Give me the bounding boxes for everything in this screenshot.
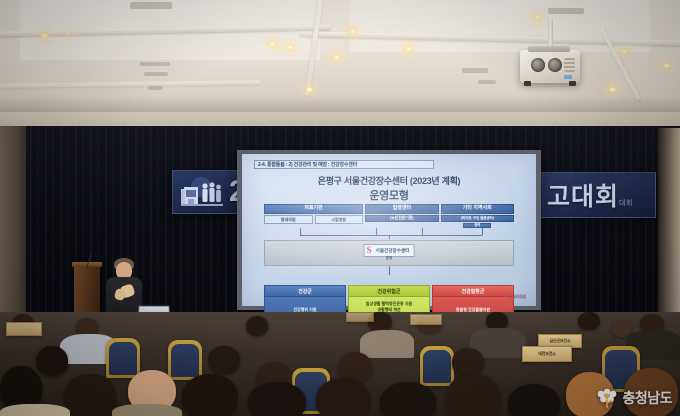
top-box-sub: (복지관, 주민 돌봄센터) [441,215,514,222]
ceiling-projector [520,50,580,83]
audience-head [246,316,268,336]
audience-chair [420,346,454,386]
hospital-logo-icon: S [502,292,506,301]
audience-head [36,346,68,376]
ceiling-downlight [286,44,295,51]
table-placard-text: 금산군보건소 [550,338,571,344]
conference-hall-screenshot: 2 고대회 대회 2-4. 통합돌봄 : 2) 건강관리 및 예방 : 건강장수… [0,0,680,416]
group-header: 건강위험군 [348,285,430,297]
ceiling-downlight [620,48,629,55]
top-box-sub: 시립병원 [315,215,364,224]
audience-head [64,374,116,416]
audience-head [508,384,560,416]
audience-shoulders [360,330,414,358]
audience-area: 금산군보건소 대전보건소 [0,312,680,416]
watermark: 충청남도 [596,388,672,408]
slide-footer-logo: S 서울의료원 [502,292,526,301]
top-box-label: 집행센터 [365,204,438,214]
slide-subtitle: 운영모형 [242,187,536,203]
audience-head [578,312,600,330]
group-header: 건강군 [264,285,346,297]
right-banner-text: 고대회 [547,177,619,213]
left-wall-panel [0,126,26,326]
diagram-connectors [264,228,514,239]
audience-chair [168,340,202,380]
building-and-people-emblem-icon [179,175,225,209]
top-box-label: 의료기관 [264,204,363,214]
slide-title: 은평구 서울건강장수센터 (2023년 계획) [242,174,536,187]
table-placard: 대전보건소 [522,346,572,362]
audience-head [248,382,306,416]
audience-head [380,382,436,416]
ceiling [0,0,680,120]
ceiling-downlight [608,86,617,93]
slide-header-tag: 2-4. 통합돌봄 : 2) 건강관리 및 예방 : 건강장수센터 [254,160,434,169]
ceiling-downlight [533,14,542,21]
projector-lens-icon [548,58,562,72]
right-backdrop-banner: 고대회 대회 [540,172,656,218]
table-placard [6,322,42,336]
watermark-text: 충청남도 [622,388,672,408]
seoul-health-logo-icon: S [367,246,375,255]
projector-lens-icon [531,58,545,72]
ceiling-downlight [63,30,72,37]
flower-logo-icon [596,388,618,408]
right-wall-panel [658,128,680,318]
table-placard-text: 대전보건소 [538,351,555,357]
top-box-sub: (노인전문기관) [365,215,438,222]
diagram-top-row: 의료기관 동네의원 시립병원 집행센터 (노인전문기관) 기타 지역사회 (복지… [264,204,514,228]
audience-head [316,378,370,416]
audience-shoulders [112,404,182,416]
slide-header-tag-text: 2-4. 통합돌봄 : 2) 건강관리 및 예방 : 건강장수센터 [258,161,357,168]
audience-shoulders [0,404,70,416]
projection-screen: 2-4. 통합돌봄 : 2) 건강관리 및 예방 : 건강장수센터 은평구 서울… [242,154,536,306]
ceiling-downlight [348,28,357,35]
audience-head [182,374,238,416]
ceiling-downlight [332,54,341,61]
right-banner-subtext: 대회 [619,198,633,208]
center-chip-text: 서울건강장수센터 [376,248,410,254]
ceiling-downlight [662,62,671,69]
audience-head [452,348,484,376]
ceiling-downlight [404,45,413,52]
audience-head [446,374,500,416]
ceiling-downlight [305,86,314,93]
top-box-sub: 동네의원 [264,215,313,224]
left-backdrop-banner: 2 [172,170,246,214]
ceiling-downlight [40,32,49,39]
diagram-center-bar: S 서울건강장수센터 운영 [264,240,514,266]
ceiling-downlight [268,40,277,47]
top-box-label: 기타 지역사회 [441,204,514,214]
audience-head [208,346,240,374]
table-placard [410,314,442,325]
table-placard [346,312,374,322]
center-note: 운영 [386,256,393,261]
audience-chair [106,338,140,378]
slide-footer-logo-text: 서울의료원 [509,294,526,300]
